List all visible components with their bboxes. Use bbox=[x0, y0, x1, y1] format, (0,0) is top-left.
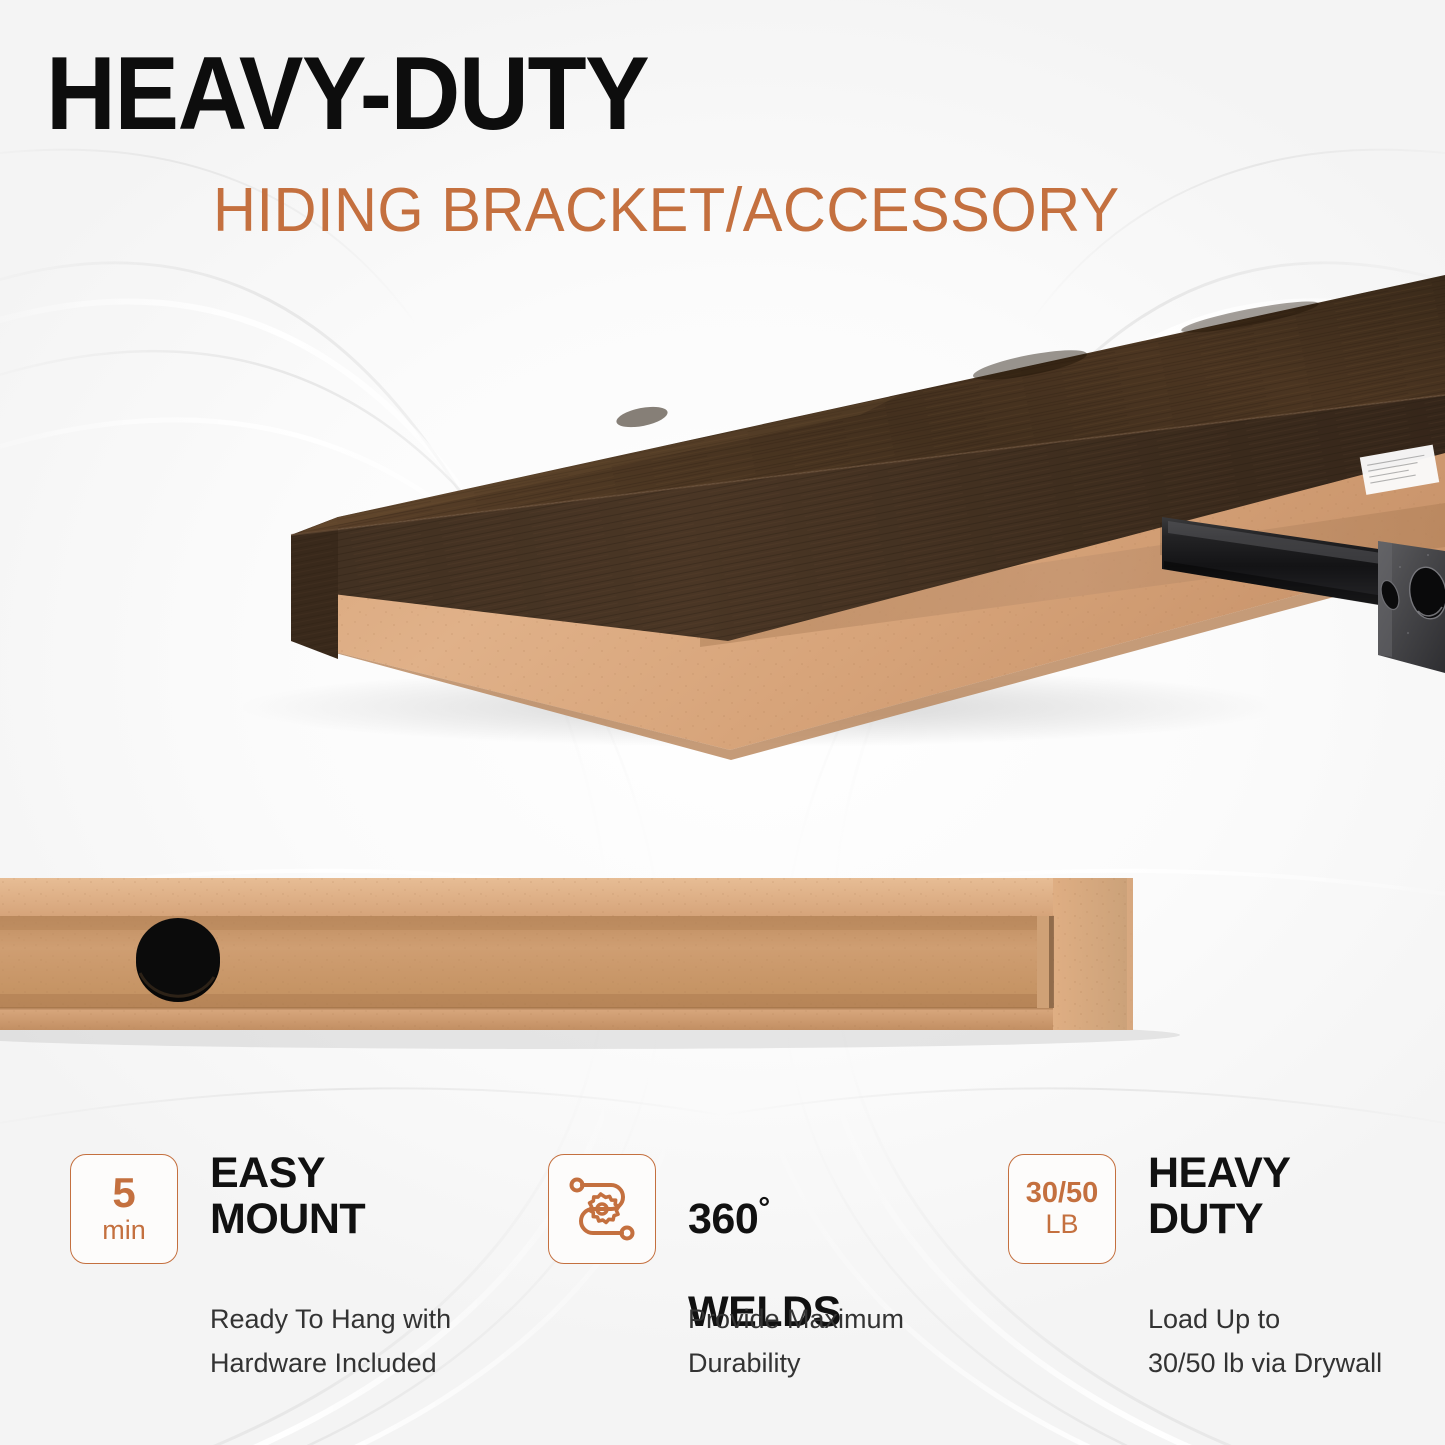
feature-description: Provide Maximum Durability bbox=[688, 1298, 904, 1385]
weld-path-gear-icon-box bbox=[548, 1154, 656, 1264]
badge-unit: min bbox=[102, 1216, 146, 1246]
page-subtitle: HIDING BRACKET/ACCESSORY bbox=[213, 180, 1120, 242]
feature-description: Load Up to 30/50 lb via Drywall bbox=[1148, 1298, 1382, 1385]
load-capacity-badge: 30/50 LB bbox=[1008, 1154, 1116, 1264]
feature-item-heavy-duty: 30/50 LB HEAVY DUTY Load Up to 30/50 lb … bbox=[1000, 1140, 1445, 1430]
feature-item-360-welds: 360° WELDS Provide Maximum Durability bbox=[540, 1140, 1000, 1430]
five-minute-badge: 5 min bbox=[70, 1154, 178, 1264]
feature-list: 5 min EASY MOUNT Ready To Hang with Hard… bbox=[0, 1140, 1445, 1430]
feature-title-main: 360 bbox=[688, 1195, 758, 1243]
feature-description: Ready To Hang with Hardware Included bbox=[210, 1298, 451, 1385]
badge-number: 5 bbox=[112, 1172, 135, 1214]
weld-path-gear-icon bbox=[565, 1172, 639, 1246]
badge-unit: LB bbox=[1045, 1210, 1078, 1240]
page-title: HEAVY-DUTY bbox=[46, 42, 648, 146]
feature-title: HEAVY DUTY bbox=[1148, 1150, 1290, 1243]
feature-title: EASY MOUNT bbox=[210, 1150, 365, 1243]
channel-cross-section-photo bbox=[0, 855, 1445, 1060]
feature-item-easy-mount: 5 min EASY MOUNT Ready To Hang with Hard… bbox=[62, 1140, 522, 1430]
degree-symbol: ° bbox=[758, 1192, 770, 1225]
hero-product-photo bbox=[0, 255, 1445, 785]
badge-number: 30/50 bbox=[1026, 1179, 1099, 1208]
